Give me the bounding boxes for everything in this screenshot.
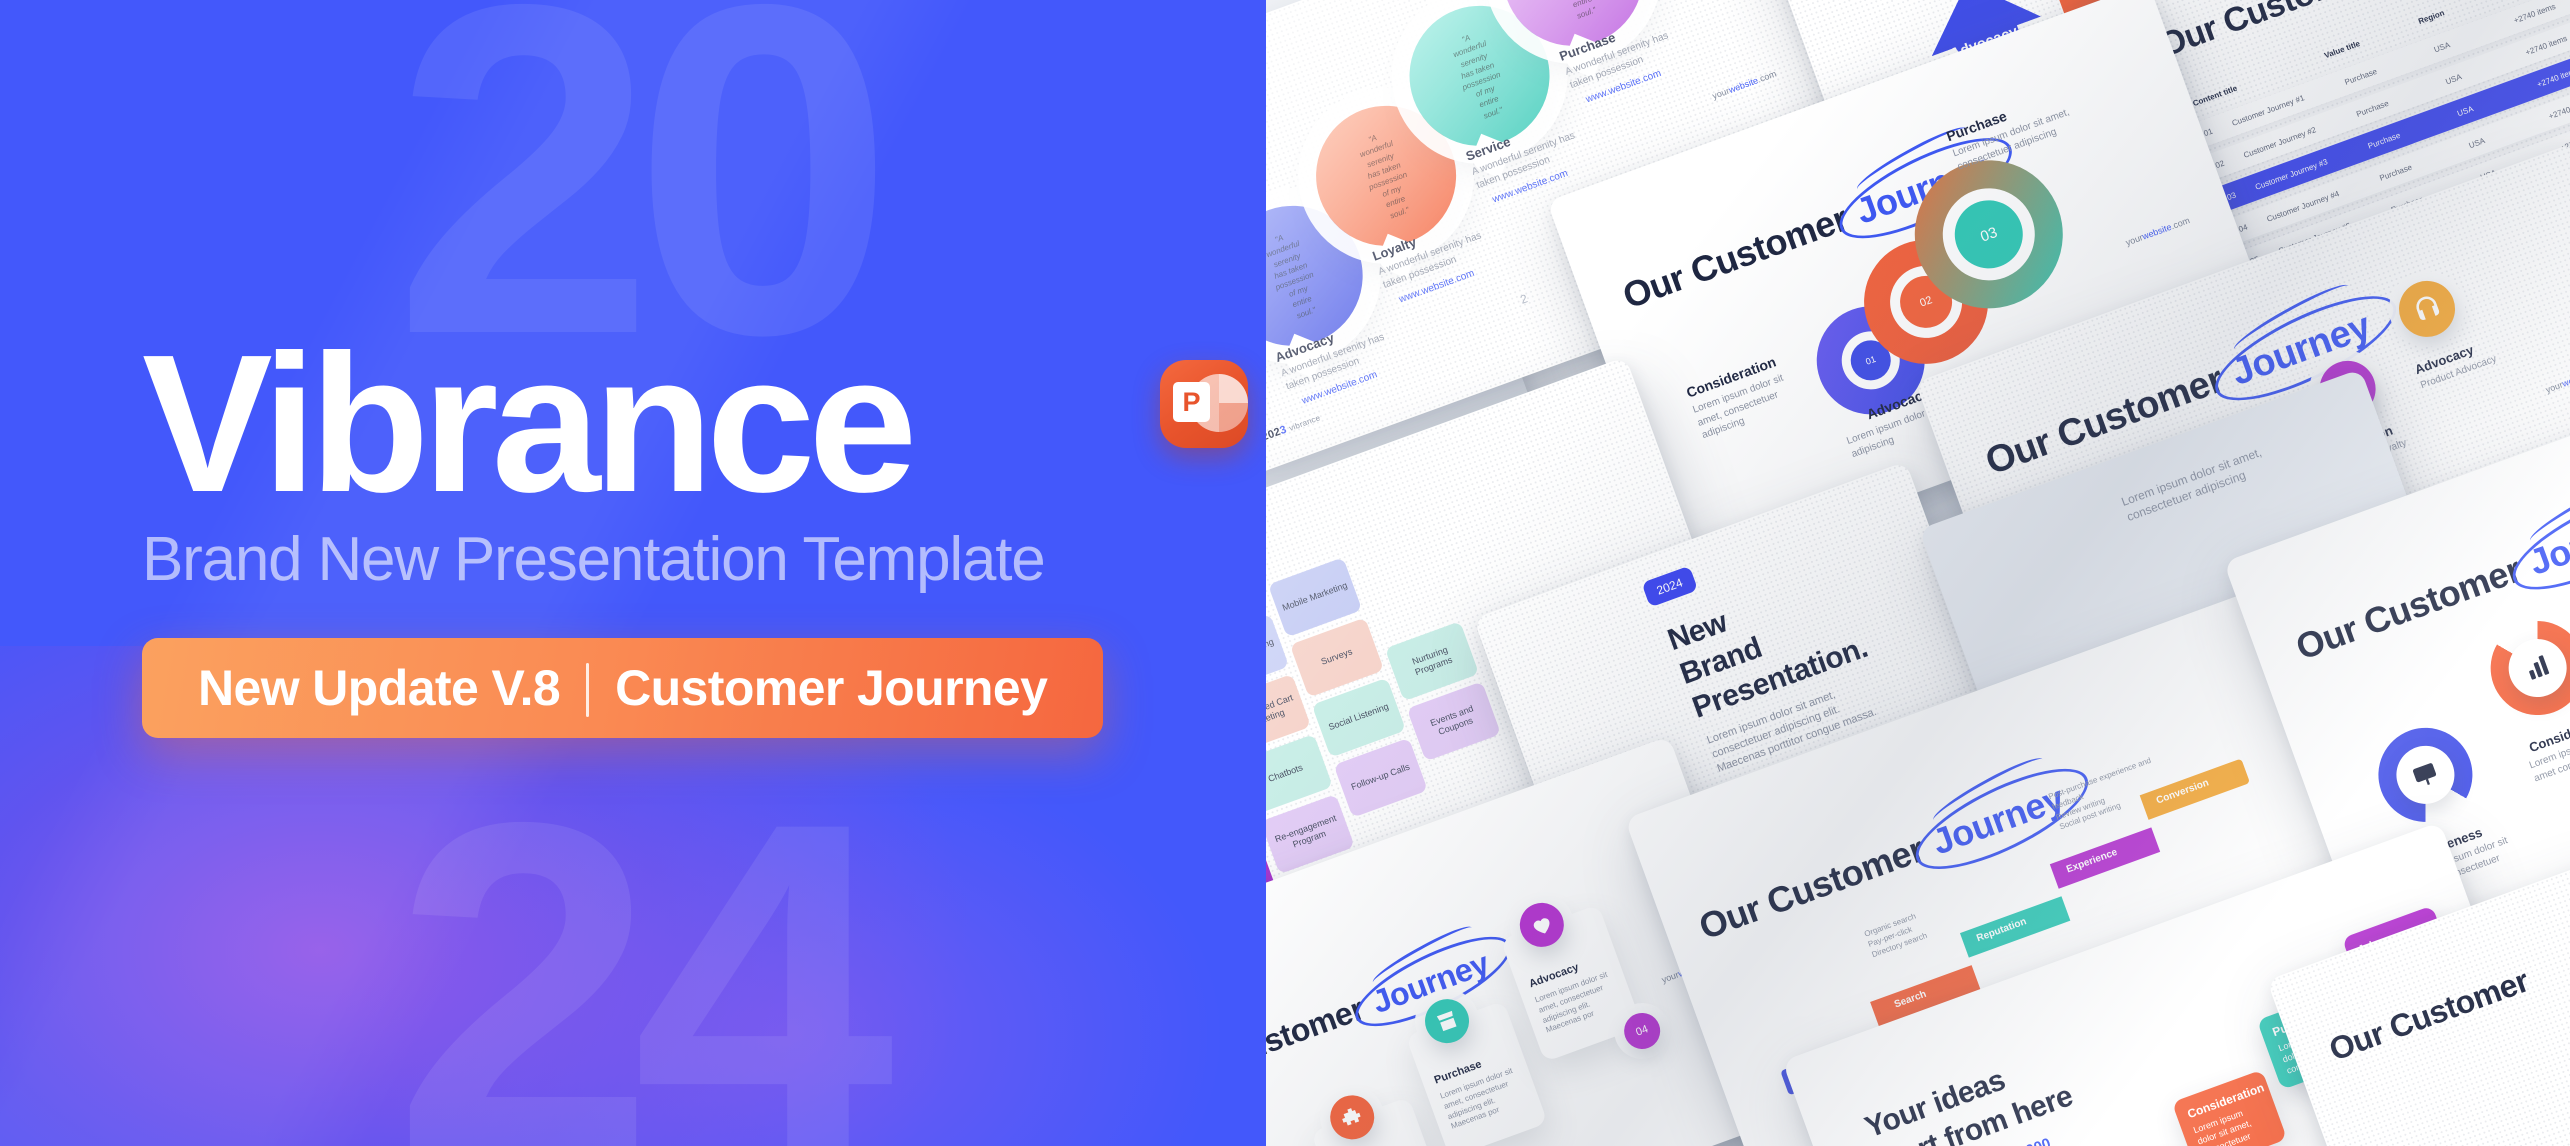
slide-title: Our Customer [2324,962,2533,1068]
slide-website: yourwebsite.com [2544,362,2570,394]
update-badge[interactable]: New Update V.8 Customer Journey [142,638,1103,738]
page-title: Vibrance [142,328,910,520]
website-suffix: .com [2169,215,2191,231]
slide-website: yourwebsite.com [2124,215,2191,247]
circle-num-02: 02 [1918,294,1934,309]
website-mid: website [1727,75,1759,95]
hero-content: Vibrance P Brand New Presentation Templa… [142,328,1202,738]
website-mid: website [2561,369,2570,389]
promo-banner: 20 24 Vibrance P Brand New Presentation … [0,0,2570,1146]
circle-num-01: 01 [1864,354,1877,367]
bubble-quote: "A wonderful serenity has taken possessi… [1539,0,1607,25]
presentation-icon [2408,757,2444,793]
update-badge-separator [586,663,589,717]
stage-bullets-experience: Post-purchase experience and feedback Re… [2047,748,2184,833]
page-subtitle: Brand New Presentation Template [142,526,1202,594]
title-journey: Journey [1915,773,2080,866]
bubble-quote: "A wonderful serenity has taken possessi… [1352,127,1420,225]
bubble-quote: "A wonderful serenity has taken possessi… [1445,27,1513,125]
watermark-20: 20 [0,0,1266,358]
year-tag: 2024 [1641,566,1698,608]
slide-mosaic: 75% 85% yourwebsite.com Product models P… [1266,0,2570,1146]
puzzle-icon [1337,1102,1368,1133]
title-journey: Journey [2512,494,2570,587]
card-num-text: 04 [1634,1023,1650,1038]
slide-website: yourwebsite.com [1711,69,1778,101]
icon-advocacy [2391,273,2463,345]
hero-panel: 20 24 Vibrance P Brand New Presentation … [0,0,1266,1146]
purple-glow-secondary [340,726,1240,1146]
slide-footer: 2023vibrance [1266,411,1322,443]
title-prefix: Our Customer [2290,549,2526,668]
ideas-total-value: 70,000 [2004,1135,2053,1146]
footer-brand: vibrance [1288,413,1322,433]
row-highlighted: +2740 items [2506,0,2570,27]
bar-chart-icon [2520,650,2556,686]
update-badge-left: New Update V.8 [198,659,560,717]
powerpoint-letter: P [1173,382,1210,422]
website-suffix: .com [1756,69,1778,85]
update-badge-right: Customer Journey [615,659,1047,717]
shop-icon [1432,1006,1463,1037]
title-prefix: Our Customer [1266,990,1368,1095]
bubble-quote: "A wonderful serenity has taken possessi… [1266,227,1327,325]
brand-row: Vibrance P [142,328,1202,520]
heart-icon [1526,909,1557,940]
slide-page-number: 2 [1518,291,1529,306]
idea-bubble-consideration: Consideration Lorem ipsum dolor sit amet… [2172,1070,2287,1146]
website-mid: website [2141,222,2173,242]
watermark-24: 24 [0,800,1266,1146]
powerpoint-icon: P [1160,360,1248,448]
headset-icon [2407,289,2446,328]
circle-num-03: 03 [1978,224,1999,246]
title-prefix: Our Customer [2324,962,2533,1067]
title-prefix: Our Customer [1617,197,1853,316]
